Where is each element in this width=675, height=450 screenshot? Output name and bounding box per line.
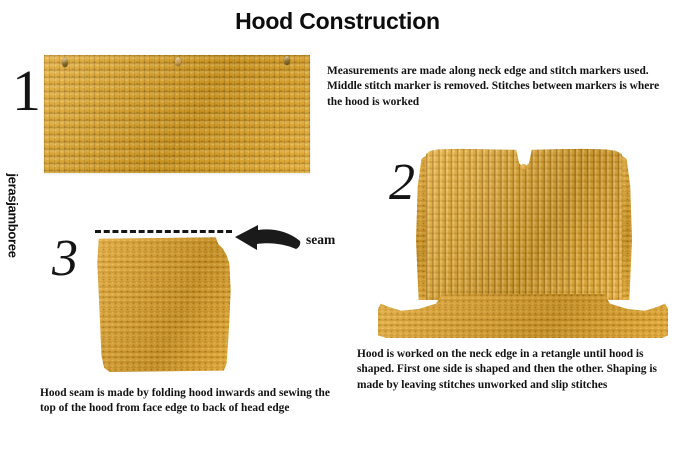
caption-step-3: Hood seam is made by folding hood inward… — [40, 386, 340, 417]
stitch-marker-right-icon — [284, 56, 290, 65]
stitch-marker-left-icon — [62, 58, 68, 67]
seam-dashed-line — [95, 230, 232, 233]
caption-step-2: Hood is worked on the neck edge in a ret… — [357, 347, 675, 393]
seam-label: seam — [306, 232, 335, 248]
knit-seed-texture — [378, 294, 668, 338]
seam-arrow-icon — [232, 224, 302, 254]
photo-hood-folded-for-seaming — [96, 236, 232, 372]
sweater-neck-edge-base — [378, 294, 668, 338]
center-notch-marker — [520, 164, 527, 171]
hood-construction-infographic: Hood Construction jerasjamboree 1 Measur… — [0, 0, 675, 450]
step-number-1: 1 — [12, 62, 41, 120]
stitch-marker-middle-icon — [175, 57, 181, 66]
knit-fabric-texture — [44, 55, 310, 173]
step-number-3: 3 — [52, 233, 78, 285]
photo-knitted-rectangle-with-stitch-markers — [44, 55, 310, 173]
page-title: Hood Construction — [0, 8, 675, 35]
photo-hood-worked-in-rectangle-from-neck-edge — [378, 148, 668, 338]
knit-seed-texture — [96, 236, 232, 372]
caption-step-1: Measurements are made along neck edge an… — [327, 64, 672, 110]
watermark-jerasjamboree: jerasjamboree — [6, 161, 21, 271]
